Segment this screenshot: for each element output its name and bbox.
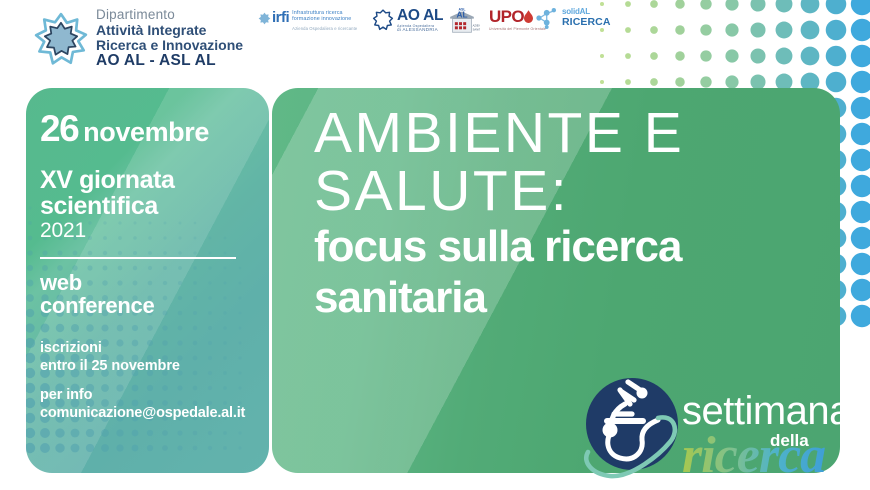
logo-dipartimento: Dipartimento Attività Integrate Ricerca … [34,8,243,70]
solidal-bottom-word: RICERCA [562,17,611,28]
date-month: novembre [83,119,209,146]
aoal-star-icon [372,9,394,31]
dipartimento-line3: Ricerca e Innovazione [96,38,243,53]
logo-solidal-ricerca: solidAL RICERCA [535,7,611,29]
stethoscope-bell [603,423,618,438]
contact-email[interactable]: comunicazione@ospedale.al.it [40,404,265,422]
dipartimento-line1: Dipartimento [96,8,243,23]
irfi-wordmark: irfi [272,10,289,25]
date-day: 26 [40,110,78,147]
logo-irfi: irfi Infrastruttura ricerca formazione i… [258,10,357,32]
logo-asl-al: ASL AL AZIENDA SANITARIA [444,5,480,37]
title-line2: SALUTE: [314,162,830,220]
aoal-sub2: di ALESSANDRIA [397,28,443,33]
svg-text:AL: AL [456,9,467,19]
registration-label: iscrizioni [40,339,265,357]
mode-line1: web [40,271,265,294]
edition-line1: XV giornata [40,167,265,193]
subtitle-line2: sanitaria [314,275,830,322]
logo-aoal: AO AL Azienda Ospedaliera di ALESSANDRIA [372,8,443,33]
event-date: 26 novembre [40,110,265,147]
irfi-line2: formazione innovazione [292,16,357,22]
settimana-della-ricerca-logo: settimana della ricerca [570,368,852,486]
upo-flame-icon [524,10,533,24]
svg-text:SANITARIA: SANITARIA [473,27,480,31]
header-logo-bar: Dipartimento Attività Integrate Ricerca … [0,0,620,78]
word-ricerca: ricerca [682,427,825,484]
irfi-star-icon [258,12,271,25]
aoal-wordmark: AO AL [397,8,443,24]
molecule-icon [535,7,561,29]
title-line1: AMBIENTE E [314,104,830,162]
contact-label: per info [40,386,265,404]
dipartimento-line4: AO AL - ASL AL [96,53,243,70]
upo-wordmark: UPO [489,8,524,25]
svg-text:AZIENDA: AZIENDA [473,23,480,27]
edition-line2: scientifica [40,193,265,219]
mode-line2: conference [40,294,265,317]
irfi-subline: Azienda Ospedaliera e ricercante [292,27,357,32]
microscope-lens [637,388,648,399]
event-details-card: 26 novembre XV giornata scientifica 2021… [26,88,269,473]
eight-point-star-icon [34,11,88,67]
dipartimento-line2: Attività Integrate [96,23,243,38]
subtitle-line1: focus sulla ricerca [314,224,830,271]
edition-year: 2021 [40,219,265,243]
registration-deadline: entro il 25 novembre [40,357,265,375]
divider [40,257,236,259]
